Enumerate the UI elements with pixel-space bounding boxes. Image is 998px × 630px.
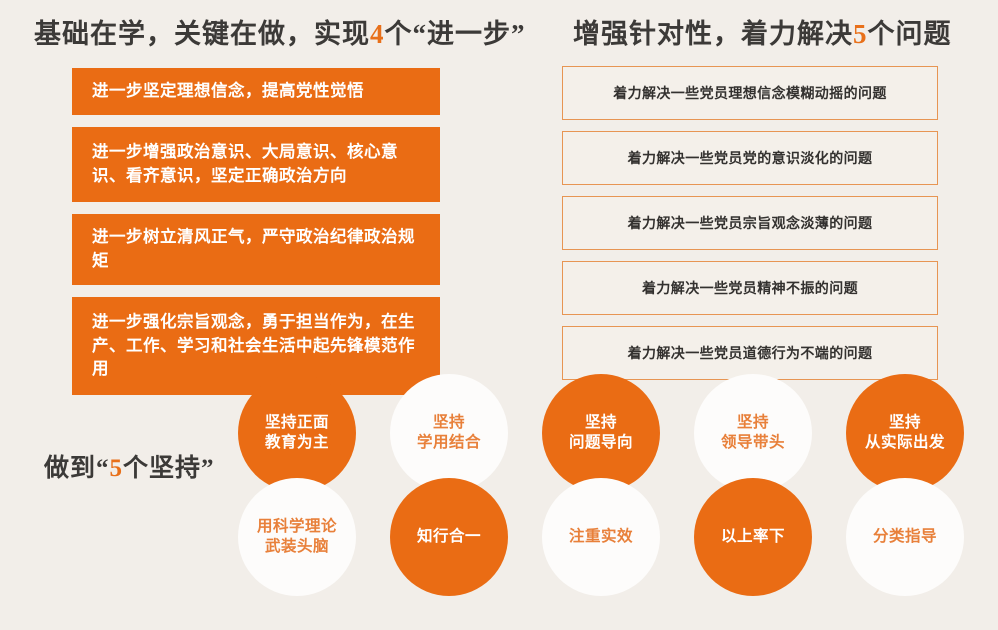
bottom-label-prefix: 做到“ xyxy=(44,455,110,482)
circle-column: 坚持正面教育为主用科学理论武装头脑 xyxy=(238,374,356,602)
infographic-canvas: 基础在学，关键在做，实现4个“进一步” 增强针对性，着力解决5个问题 进一步坚定… xyxy=(0,0,998,630)
right-heading-suffix: 个问题 xyxy=(868,19,952,49)
circle-column: 坚持问题导向注重实效 xyxy=(542,374,660,602)
bottom-label-number: 5 xyxy=(110,455,124,482)
list-item: 进一步增强政治意识、大局意识、核心意识、看齐意识，坚定正确政治方向 xyxy=(72,127,440,202)
circle-label: 注重实效 xyxy=(563,527,639,547)
list-item: 着力解决一些党员宗旨观念淡薄的问题 xyxy=(562,196,938,250)
list-item: 进一步坚定理想信念，提高党性觉悟 xyxy=(72,68,440,115)
circle-top-4[interactable]: 坚持领导带头 xyxy=(694,374,812,492)
circle-label: 用科学理论武装头脑 xyxy=(251,517,343,557)
circle-label: 知行合一 xyxy=(411,527,487,547)
circle-label: 坚持问题导向 xyxy=(563,413,639,453)
circle-column: 坚持学用结合知行合一 xyxy=(390,374,508,602)
right-section-heading: 增强针对性，着力解决5个问题 xyxy=(573,12,952,51)
circle-column: 坚持从实际出发分类指导 xyxy=(846,374,964,602)
list-item: 进一步树立清风正气，严守政治纪律政治规矩 xyxy=(72,214,440,285)
circle-top-1[interactable]: 坚持正面教育为主 xyxy=(238,374,356,492)
circle-group: 坚持正面教育为主用科学理论武装头脑坚持学用结合知行合一坚持问题导向注重实效坚持领… xyxy=(238,374,998,602)
bottom-section-label: 做到“5个坚持” xyxy=(44,448,215,484)
circle-bottom-2[interactable]: 知行合一 xyxy=(390,478,508,596)
circle-top-2[interactable]: 坚持学用结合 xyxy=(390,374,508,492)
circle-column: 坚持领导带头以上率下 xyxy=(694,374,812,602)
circle-bottom-1[interactable]: 用科学理论武装头脑 xyxy=(238,478,356,596)
circle-top-3[interactable]: 坚持问题导向 xyxy=(542,374,660,492)
right-item-list: 着力解决一些党员理想信念模糊动摇的问题 着力解决一些党员党的意识淡化的问题 着力… xyxy=(562,66,938,391)
left-heading-prefix: 基础在学，关键在做，实现 xyxy=(34,19,370,49)
left-heading-number: 4 xyxy=(370,19,385,49)
list-item: 着力解决一些党员精神不振的问题 xyxy=(562,261,938,315)
circle-label: 坚持从实际出发 xyxy=(859,413,951,453)
right-heading-prefix: 增强针对性，着力解决 xyxy=(573,19,853,49)
left-section-heading: 基础在学，关键在做，实现4个“进一步” xyxy=(34,12,526,51)
circle-bottom-5[interactable]: 分类指导 xyxy=(846,478,964,596)
circle-top-5[interactable]: 坚持从实际出发 xyxy=(846,374,964,492)
circle-label: 坚持领导带头 xyxy=(715,413,791,453)
list-item: 着力解决一些党员理想信念模糊动摇的问题 xyxy=(562,66,938,120)
left-heading-suffix: 个“进一步” xyxy=(385,19,526,49)
circle-label: 坚持学用结合 xyxy=(411,413,487,453)
circle-label: 坚持正面教育为主 xyxy=(259,413,335,453)
circle-bottom-3[interactable]: 注重实效 xyxy=(542,478,660,596)
bottom-label-suffix: 个坚持” xyxy=(123,455,215,482)
list-item: 着力解决一些党员党的意识淡化的问题 xyxy=(562,131,938,185)
left-item-list: 进一步坚定理想信念，提高党性觉悟 进一步增强政治意识、大局意识、核心意识、看齐意… xyxy=(72,68,440,407)
circle-label: 以上率下 xyxy=(715,527,791,547)
list-item: 着力解决一些党员道德行为不端的问题 xyxy=(562,326,938,380)
circle-bottom-4[interactable]: 以上率下 xyxy=(694,478,812,596)
circle-label: 分类指导 xyxy=(867,527,943,547)
right-heading-number: 5 xyxy=(853,19,868,49)
